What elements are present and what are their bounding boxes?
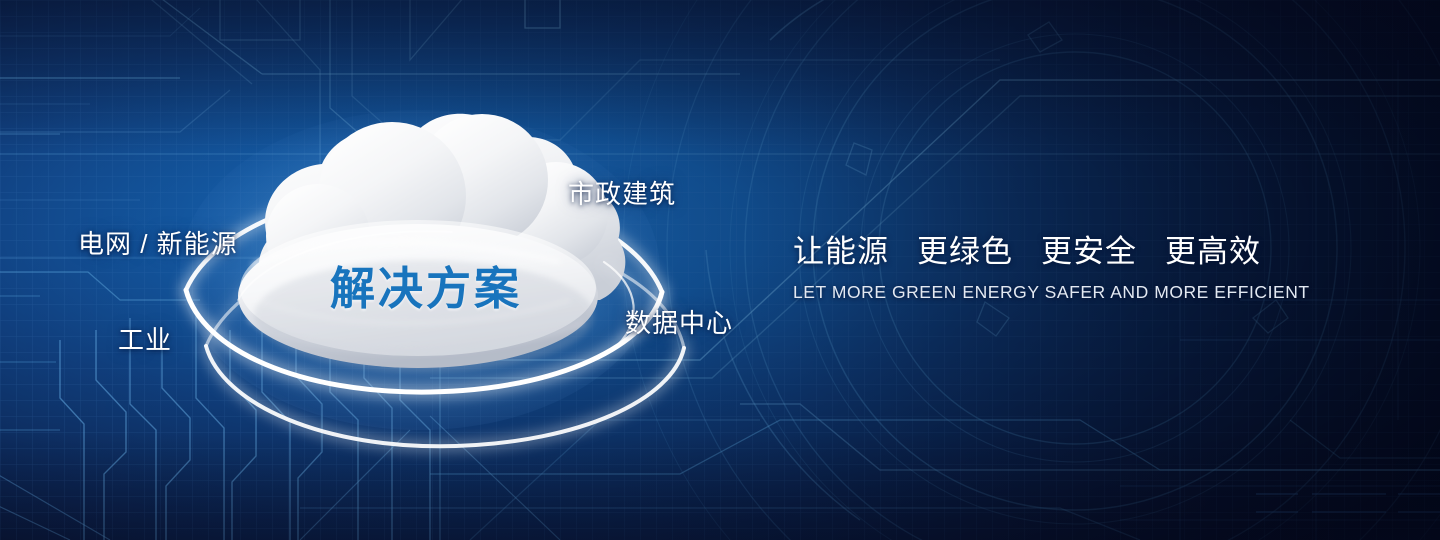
tag-municipal-building: 市政建筑 [568, 174, 676, 211]
tag-industry: 工业 [118, 320, 172, 357]
slogan-part-1: 让能源 [793, 226, 889, 271]
solution-title: 解决方案 [330, 252, 522, 317]
tag-grid-new-energy: 电网 / 新能源 [78, 224, 238, 261]
hero-banner: 电网 / 新能源 工业 市政建筑 数据中心 解决方案 让能源更绿色更安全更高效 … [0, 0, 1440, 540]
slogan-part-2: 更绿色 [917, 226, 1013, 271]
tag-data-center: 数据中心 [625, 303, 733, 340]
slogan-part-4: 更高效 [1165, 226, 1261, 271]
slogan-block: 让能源更绿色更安全更高效 LET MORE GREEN ENERGY SAFER… [793, 226, 1333, 303]
slogan-part-3: 更安全 [1041, 226, 1137, 271]
slogan-chinese: 让能源更绿色更安全更高效 [793, 226, 1333, 271]
slogan-english: LET MORE GREEN ENERGY SAFER AND MORE EFF… [793, 282, 1333, 303]
